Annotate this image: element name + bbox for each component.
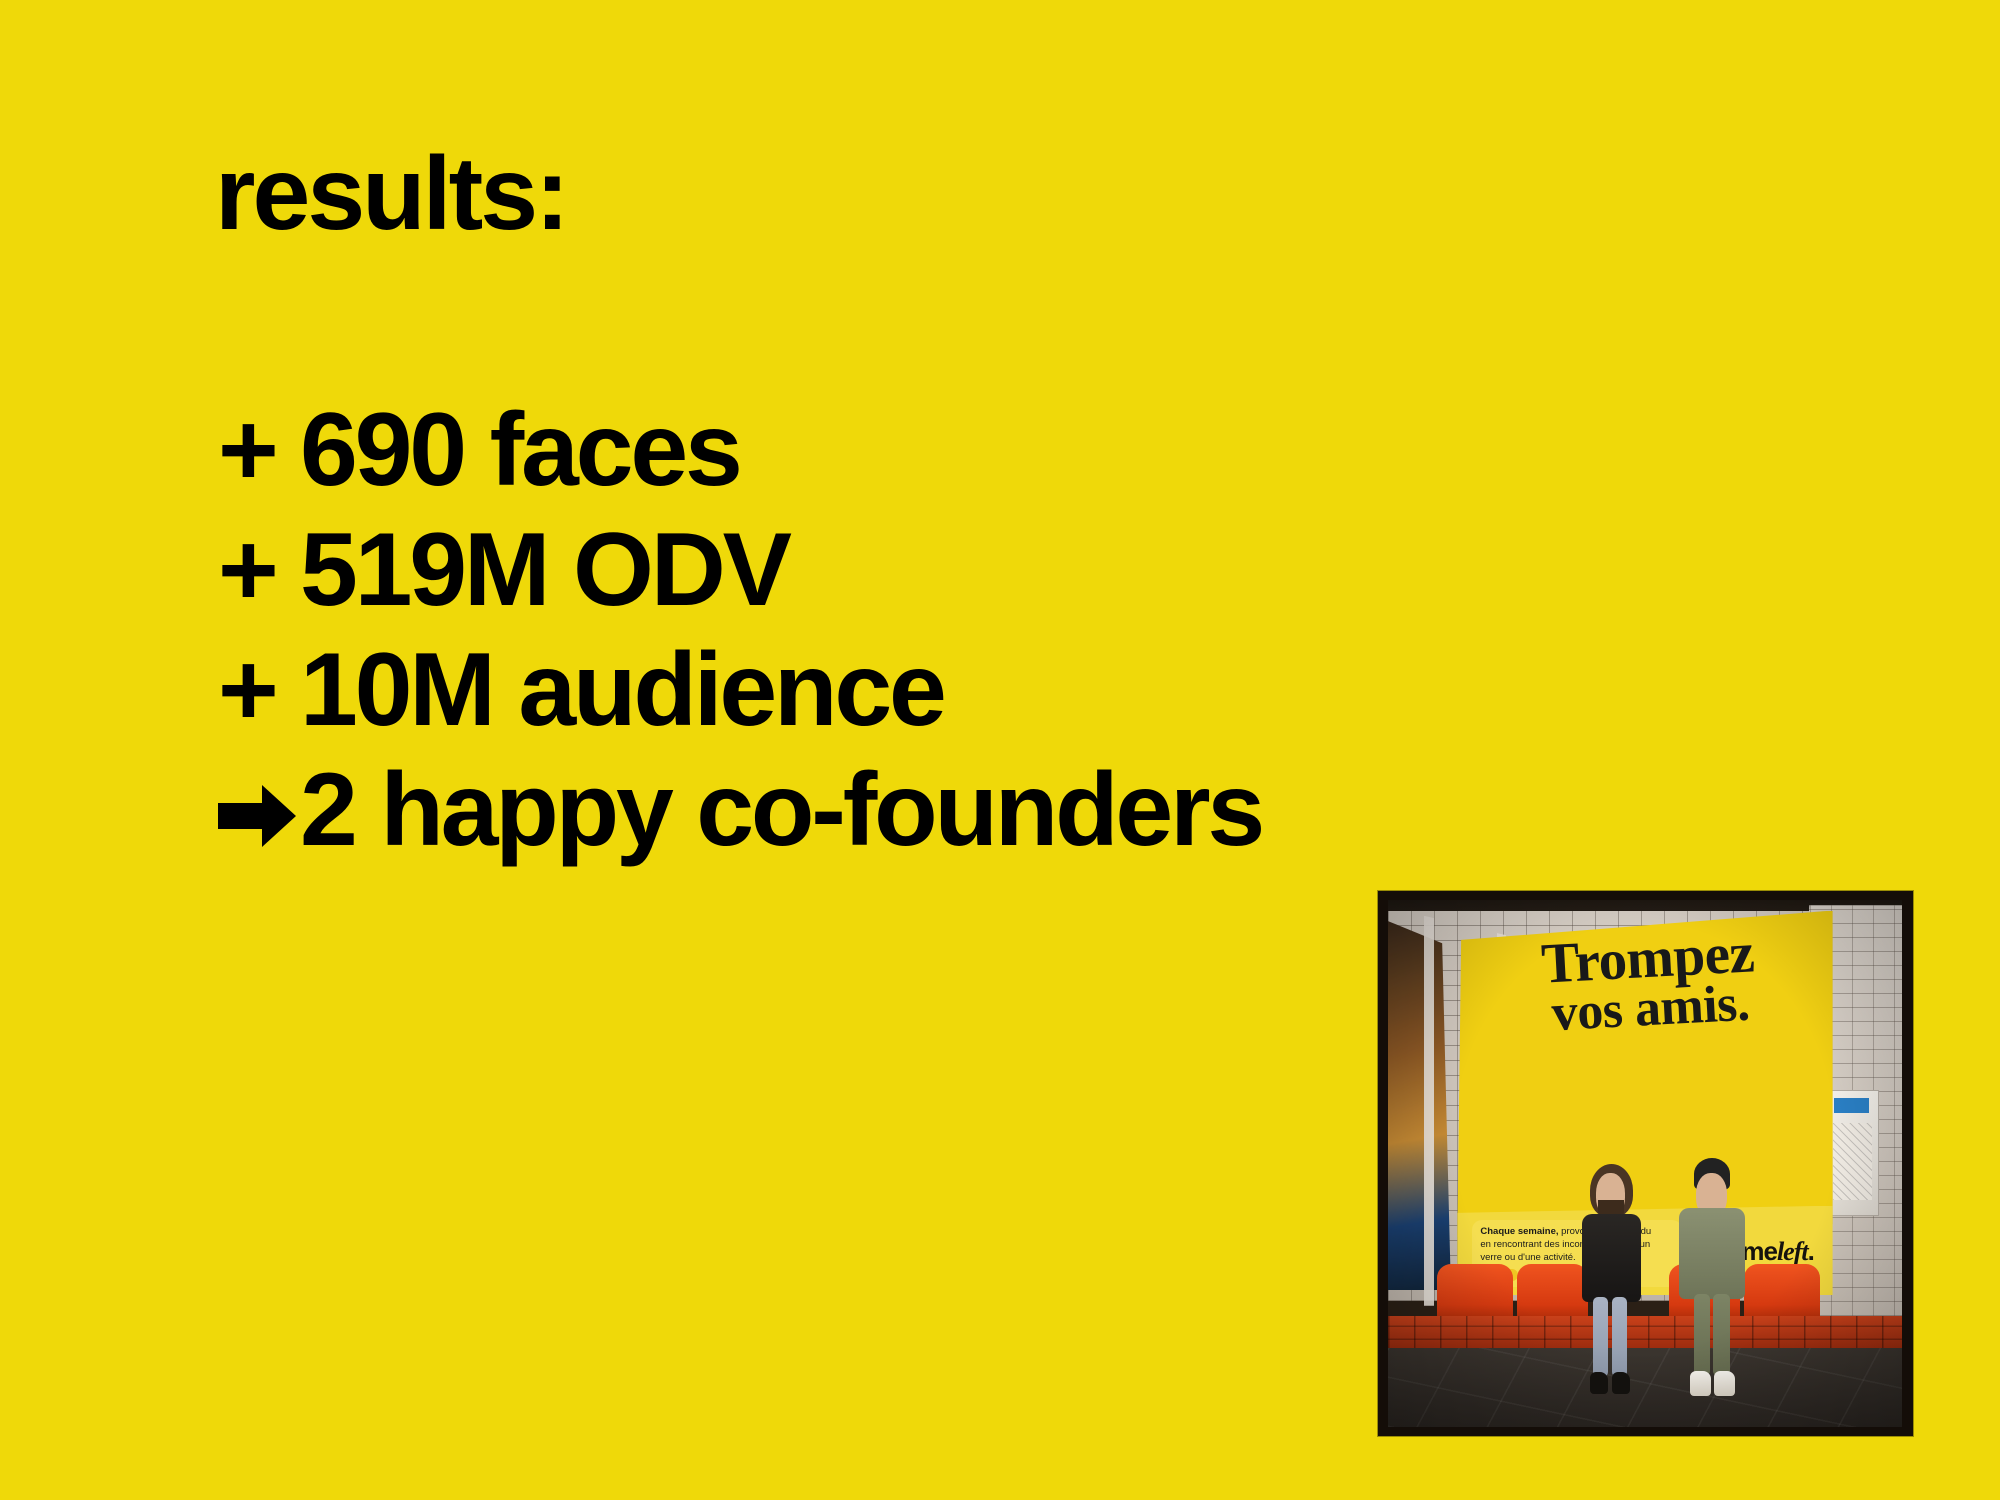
right-arrow-icon <box>218 767 300 847</box>
list-item-label: 519M ODV <box>300 518 789 622</box>
results-list: + 690 faces + 519M ODV + 10M audience 2 … <box>218 398 1262 878</box>
seat <box>1744 1264 1820 1322</box>
list-item: + 10M audience <box>218 638 1262 758</box>
list-item-label: 10M audience <box>300 638 944 742</box>
olive-jacket <box>1679 1208 1745 1300</box>
list-item: 2 happy co-founders <box>218 758 1262 878</box>
leg <box>1593 1297 1608 1377</box>
timeleft-logo-italic: left <box>1777 1237 1808 1266</box>
list-item-label: 2 happy co-founders <box>300 758 1262 862</box>
seat <box>1437 1264 1513 1322</box>
co-founder-right <box>1671 1158 1753 1406</box>
station-map-sign <box>1827 1090 1878 1216</box>
plus-sign-icon: + <box>218 518 300 622</box>
timeleft-logo-dot: . <box>1808 1236 1814 1266</box>
photo-frame: Trompez vos amis. Chaque semaine, provoq… <box>1378 891 1913 1436</box>
ad-copy-line1-bold: Chaque semaine, <box>1480 1226 1558 1237</box>
sneaker <box>1690 1371 1711 1396</box>
plus-sign-icon: + <box>218 398 300 502</box>
shoe <box>1590 1372 1609 1394</box>
metro-station-photo: Trompez vos amis. Chaque semaine, provoq… <box>1388 900 1902 1427</box>
leg <box>1694 1294 1710 1376</box>
plus-sign-icon: + <box>218 638 300 742</box>
co-founder-left <box>1573 1164 1650 1406</box>
leg <box>1612 1297 1627 1377</box>
list-item: + 690 faces <box>218 398 1262 518</box>
list-item: + 519M ODV <box>218 518 1262 638</box>
sneaker <box>1714 1371 1735 1396</box>
slide-canvas: results: + 690 faces + 519M ODV + 10M au… <box>0 0 2000 1500</box>
shoe <box>1612 1372 1631 1394</box>
ad-copy-line3: verre ou d'une activité. <box>1480 1252 1575 1263</box>
leather-jacket <box>1582 1214 1641 1301</box>
billboard-headline: Trompez vos amis. <box>1481 925 1816 1043</box>
page-title: results: <box>215 142 567 246</box>
leg <box>1713 1294 1729 1376</box>
list-item-label: 690 faces <box>300 398 740 502</box>
